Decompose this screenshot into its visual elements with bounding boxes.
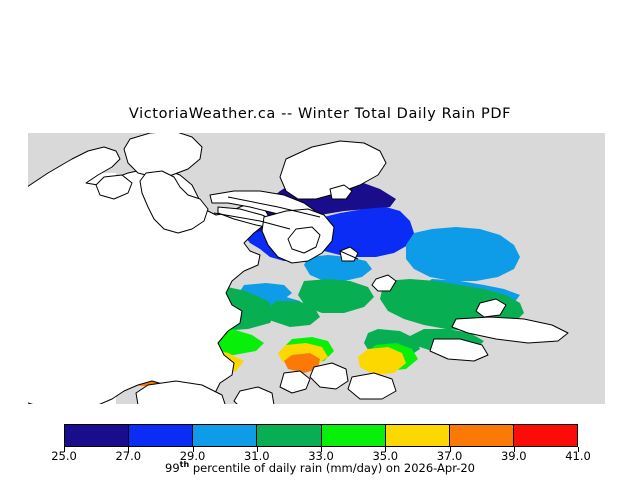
colorbar [64,424,578,447]
map-panel [28,133,605,404]
colorbar-segment-green [257,425,321,446]
colorbar-segment-light-blue [193,425,257,446]
caption-prefix: 99 [165,461,180,475]
page-title: VictoriaWeather.ca -- Winter Total Daily… [0,106,640,122]
coast-south-channel [348,373,396,399]
coast-south-island-c [280,371,310,393]
caption-rest: percentile of daily rain (mm/day) on 202… [189,461,475,475]
colorbar-segment-red [514,425,577,446]
colorbar-caption: 99th percentile of daily rain (mm/day) o… [0,460,640,475]
colorbar-segment-orange [450,425,514,446]
colorbar-segment-navy [65,425,129,446]
weather-map-figure: VictoriaWeather.ca -- Winter Total Daily… [0,0,640,480]
caption-superscript: th [180,460,190,469]
map-canvas [28,133,605,404]
coast-south-inlet [310,363,348,389]
coast-south-island-b [234,387,274,404]
colorbar-segments [64,424,578,447]
colorbar-segment-bright-green [322,425,386,446]
coast-upper-island-a [124,133,202,177]
colorbar-segment-blue [129,425,193,446]
colorbar-segment-yellow [386,425,450,446]
